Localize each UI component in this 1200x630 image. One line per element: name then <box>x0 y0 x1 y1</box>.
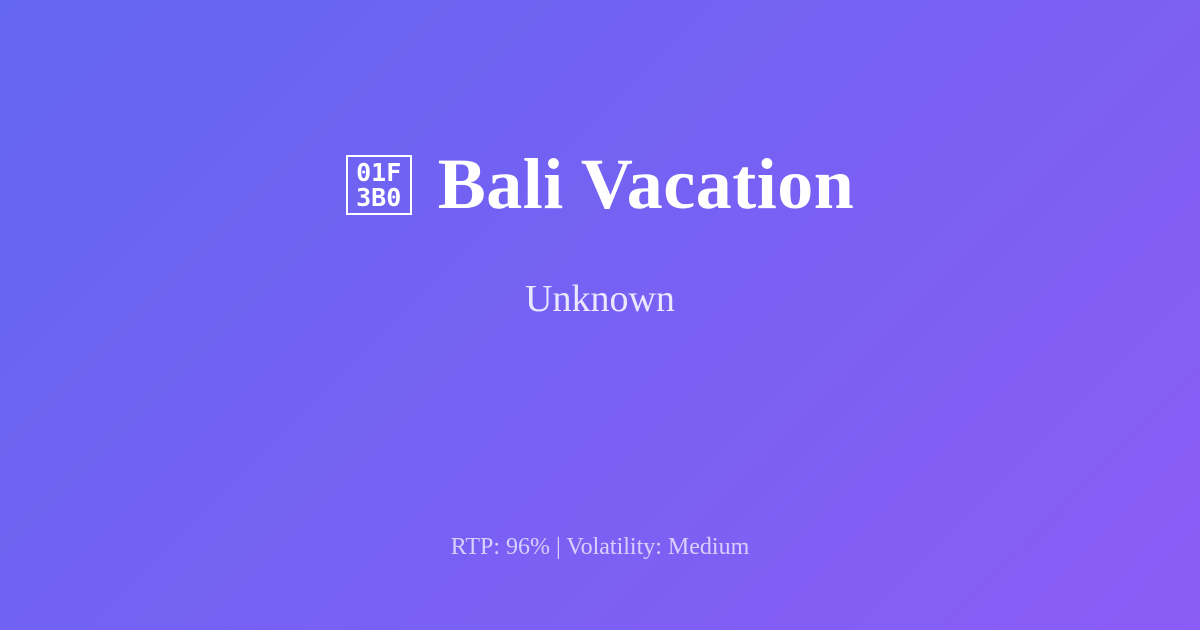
card-subtitle: Unknown <box>525 277 675 323</box>
game-meta-line: RTP: 96% | Volatility: Medium <box>0 533 1200 562</box>
og-share-card: 01F 3B0 Bali Vacation Unknown RTP: 96% |… <box>0 0 1200 630</box>
tofu-codepoint-lower: 3B0 <box>356 185 401 211</box>
slot-machine-icon: 01F 3B0 <box>346 155 412 215</box>
page-title: Bali Vacation <box>438 147 855 223</box>
card-center-block: 01F 3B0 Bali Vacation Unknown <box>0 0 1200 470</box>
title-row: 01F 3B0 Bali Vacation <box>60 147 1140 223</box>
tofu-codepoint-upper: 01F <box>356 160 401 186</box>
card-footer: RTP: 96% | Volatility: Medium <box>0 533 1200 562</box>
